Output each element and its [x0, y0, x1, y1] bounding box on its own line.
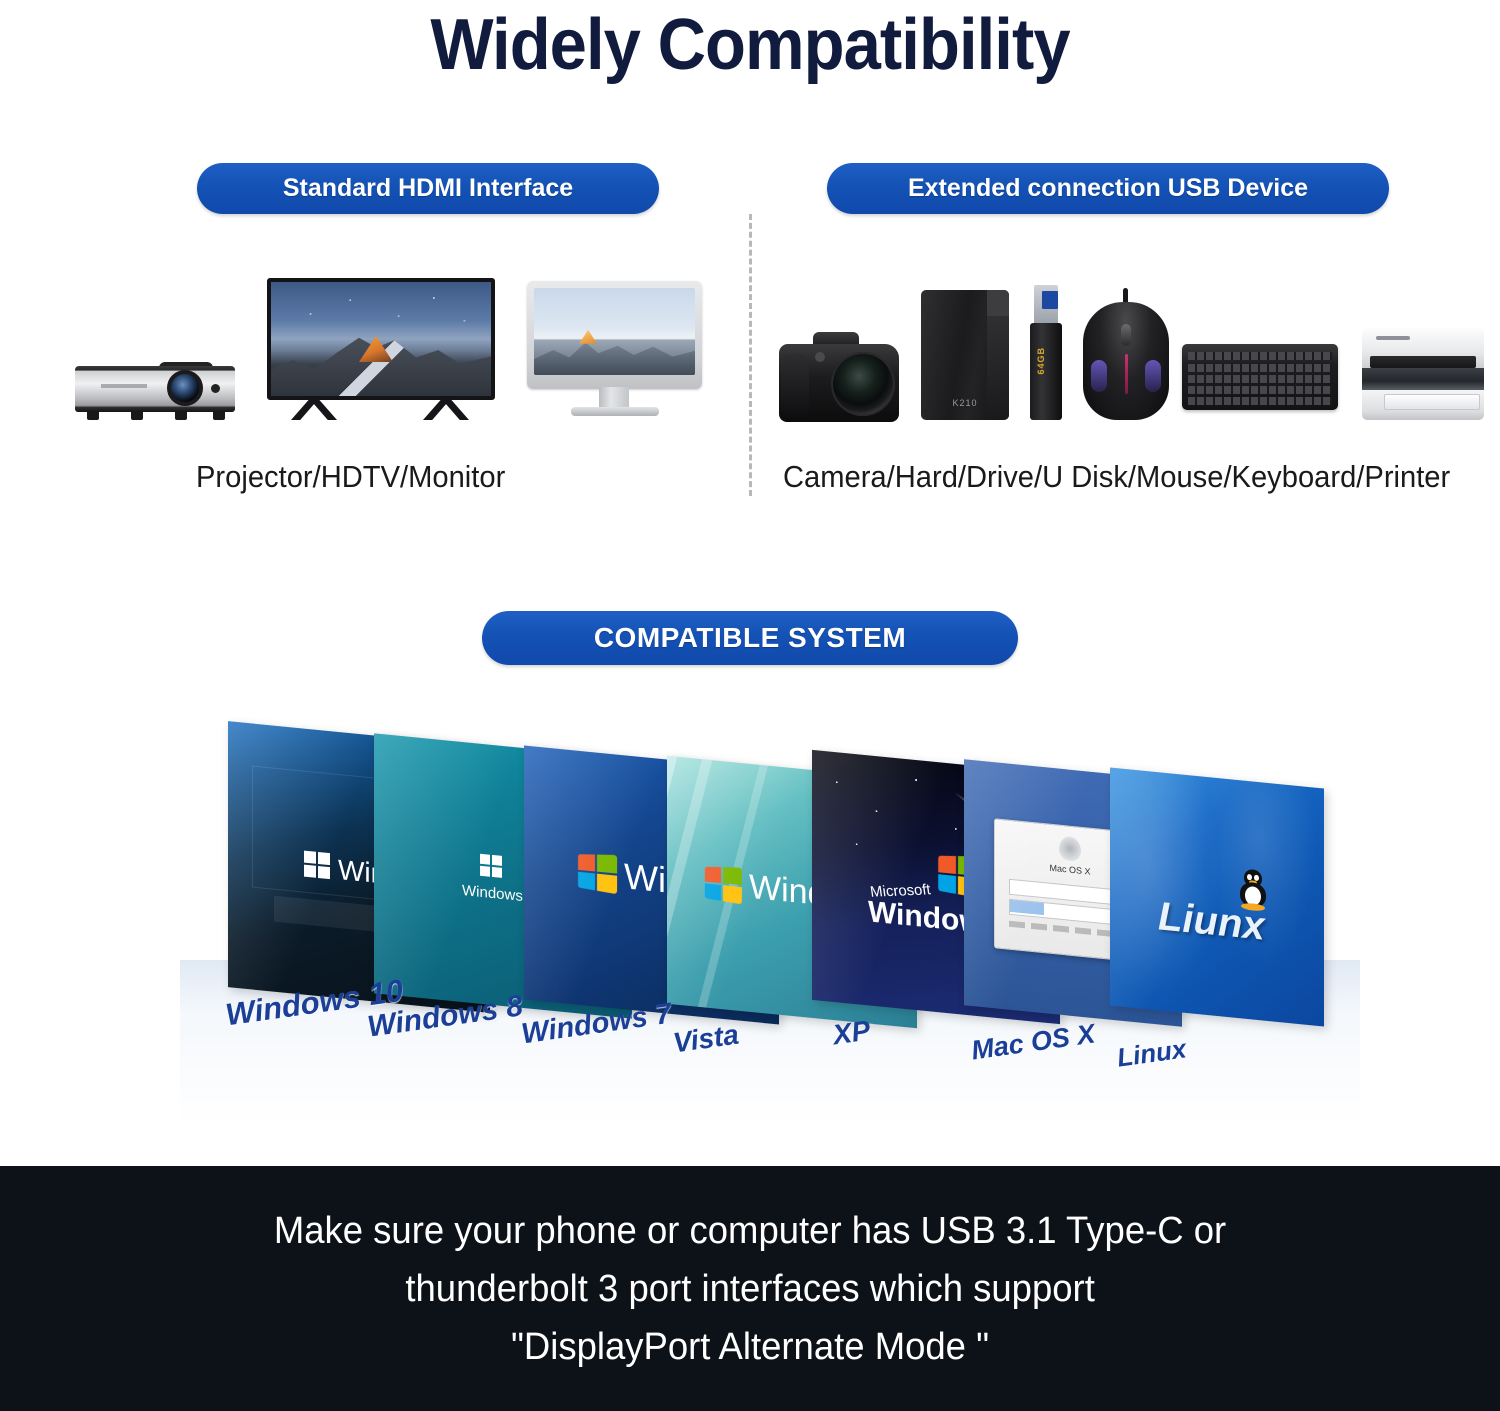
banner-line-2: thunderbolt 3 port interfaces which supp…: [405, 1260, 1094, 1318]
u-disk-icon: 64GB: [1030, 285, 1062, 420]
u-disk-marking: 64GB: [1036, 347, 1046, 375]
keyboard-icon: [1182, 344, 1338, 410]
bottom-note-banner: Make sure your phone or computer has USB…: [0, 1166, 1500, 1411]
banner-line-3: "DisplayPort Alternate Mode ": [511, 1318, 989, 1376]
banner-line-1: Make sure your phone or computer has USB…: [274, 1202, 1226, 1260]
os-card-stack: Windows Windows 8 Windo Window: [0, 690, 1500, 1120]
hard-drive-marking: K210: [921, 398, 1009, 408]
mouse-icon: [1083, 302, 1169, 420]
windows-flag-logo: [705, 867, 742, 905]
printer-icon: [1362, 328, 1484, 420]
badge-compatible-system: COMPATIBLE SYSTEM: [482, 611, 1018, 665]
section-divider: [749, 214, 752, 496]
os-label-mac-os-x: Mac OS X: [969, 1018, 1097, 1066]
hdtv-icon: [267, 278, 495, 423]
windows-tile-logo: [304, 851, 330, 880]
hard-drive-icon: K210: [921, 290, 1009, 420]
os-label-linux: Linux: [1115, 1033, 1188, 1073]
badge-extended-connection-usb-device: Extended connection USB Device: [827, 163, 1389, 214]
camera-icon: [779, 330, 899, 422]
os-label-xp: XP: [831, 1015, 872, 1052]
os-card-linux: Liunx: [1110, 768, 1324, 1027]
usb-caption: Camera/Hard/Drive/U Disk/Mouse/Keyboard/…: [783, 459, 1450, 495]
badge-standard-hdmi-interface: Standard HDMI Interface: [197, 163, 659, 214]
page-title: Widely Compatibility: [53, 4, 1448, 86]
infographic-page: Widely Compatibility Standard HDMI Inter…: [0, 0, 1500, 1411]
windows-tile-logo: [480, 854, 502, 878]
apple-logo: [1059, 836, 1081, 862]
projector-icon: [75, 360, 235, 422]
os-label-vista: Vista: [671, 1019, 741, 1060]
monitor-icon: [527, 281, 702, 421]
windows-flag-logo: [578, 854, 617, 894]
hdmi-caption: Projector/HDTV/Monitor: [196, 459, 505, 495]
